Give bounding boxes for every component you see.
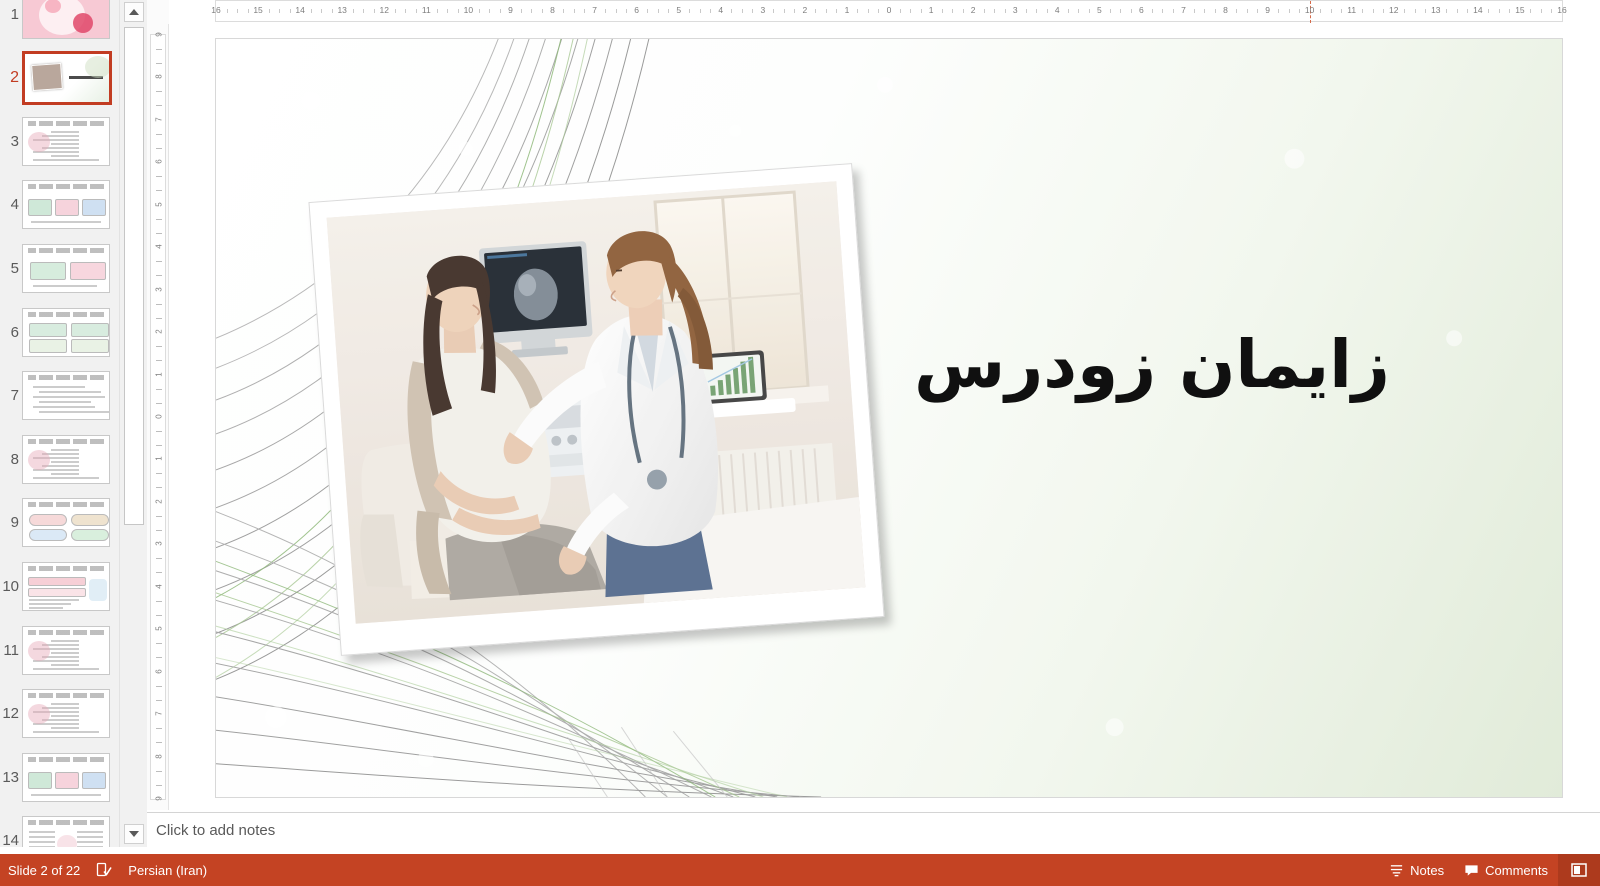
- slide-thumbnail-preview[interactable]: [22, 562, 110, 611]
- ruler-tick-label: 9: [508, 5, 513, 15]
- ruler-minor-tick: [156, 686, 162, 687]
- slide-thumbnail-6[interactable]: 6: [0, 300, 119, 364]
- ruler-tick-label: 12: [1389, 5, 1398, 15]
- ruler-minor-tick: [1289, 9, 1290, 13]
- ruler-right-filler: [1563, 0, 1600, 24]
- ruler-minor-tick: [321, 9, 322, 13]
- ruler-minor-tick: [500, 9, 501, 13]
- slide-thumbnail-2[interactable]: 2: [0, 46, 119, 110]
- normal-view-button[interactable]: [1558, 854, 1600, 886]
- ruler-minor-tick: [395, 9, 396, 13]
- thumbnail-scrollbar[interactable]: [119, 0, 147, 847]
- ruler-tick-label: 8: [1223, 5, 1228, 15]
- ruler-minor-tick: [542, 9, 543, 13]
- ruler-tick-label: 15: [253, 5, 262, 15]
- ruler-tick-label: 9: [155, 27, 164, 43]
- slide-thumbnail-number: 10: [0, 579, 22, 594]
- ruler-tick-label: 6: [155, 663, 164, 679]
- slide-thumbnail-14[interactable]: 14: [0, 809, 119, 847]
- slide-thumbnail-13[interactable]: 13: [0, 745, 119, 809]
- ruler-minor-tick: [1247, 9, 1248, 13]
- ruler-minor-tick: [1457, 9, 1458, 13]
- ruler-minor-tick: [156, 445, 162, 446]
- ruler-minor-tick: [1110, 9, 1111, 13]
- notes-button[interactable]: Notes: [1379, 854, 1454, 886]
- ruler-minor-tick: [878, 9, 879, 13]
- ruler-minor-tick: [1331, 9, 1332, 13]
- ruler-minor-tick: [269, 9, 270, 13]
- ruler-minor-tick: [156, 700, 162, 701]
- ruler-minor-tick: [479, 9, 480, 13]
- slide-thumbnail-10[interactable]: 10: [0, 554, 119, 618]
- ruler-minor-tick: [1089, 9, 1090, 13]
- ruler-minor-tick: [794, 9, 795, 13]
- ruler-minor-tick: [1120, 9, 1121, 13]
- slide-thumbnail-preview[interactable]: [22, 0, 110, 39]
- ruler-minor-tick: [921, 9, 922, 13]
- slide-thumbnail-number: 6: [0, 325, 22, 340]
- ruler-tick-label: 5: [1097, 5, 1102, 15]
- ruler-minor-tick: [626, 9, 627, 13]
- ruler-minor-tick: [752, 9, 753, 13]
- ruler-tick-label: 15: [1515, 5, 1524, 15]
- comment-icon: [1464, 863, 1479, 878]
- ruler-tick-label: 0: [887, 5, 892, 15]
- ruler-minor-tick: [416, 9, 417, 13]
- ruler-tick-label: 16: [211, 5, 220, 15]
- ruler-tick-label: 4: [155, 578, 164, 594]
- ruler-tick-label: 0: [155, 409, 164, 425]
- ruler-minor-tick: [1467, 9, 1468, 13]
- accessibility-check-icon[interactable]: [96, 862, 112, 878]
- ruler-minor-tick: [1446, 9, 1447, 13]
- ruler-tick-label: 10: [464, 5, 473, 15]
- ruler-minor-tick: [1026, 9, 1027, 13]
- ruler-minor-tick: [374, 9, 375, 13]
- slide-thumbnail-number: 11: [0, 643, 22, 658]
- slide-canvas-area[interactable]: زایمان زودرس: [169, 24, 1600, 810]
- slide-thumbnail-preview[interactable]: [22, 498, 110, 547]
- ruler-minor-tick: [1341, 9, 1342, 13]
- slide-thumbnail-3[interactable]: 3: [0, 109, 119, 173]
- ruler-tick-label: 7: [592, 5, 597, 15]
- ruler-minor-tick: [405, 9, 406, 13]
- scroll-down-arrow-icon[interactable]: [124, 824, 144, 844]
- slide-thumbnail-number: 4: [0, 197, 22, 212]
- ruler-minor-tick: [156, 516, 162, 517]
- ruler-minor-tick: [156, 105, 162, 106]
- ruler-tick-label: 13: [337, 5, 346, 15]
- ruler-tick-label: 14: [1473, 5, 1482, 15]
- ruler-tick-label: 5: [676, 5, 681, 15]
- ruler-minor-tick: [689, 9, 690, 13]
- ruler-tick-label: 6: [1139, 5, 1144, 15]
- ruler-minor-tick: [584, 9, 585, 13]
- ruler-minor-tick: [1152, 9, 1153, 13]
- ruler-minor-tick: [1551, 9, 1552, 13]
- ruler-minor-tick: [156, 176, 162, 177]
- ruler-minor-tick: [156, 615, 162, 616]
- ruler-tick-label: 10: [1305, 5, 1314, 15]
- slide-thumbnail-7[interactable]: 7: [0, 364, 119, 428]
- slide-thumbnail-preview[interactable]: [22, 435, 110, 484]
- ruler-minor-tick: [563, 9, 564, 13]
- ruler-tick-label: 7: [1181, 5, 1186, 15]
- ruler-tick-label: 13: [1431, 5, 1440, 15]
- ruler-minor-tick: [784, 9, 785, 13]
- ruler-minor-tick: [156, 318, 162, 319]
- ruler-tick-label: 3: [155, 536, 164, 552]
- ruler-minor-tick: [1215, 9, 1216, 13]
- slide-thumbnail-preview[interactable]: [22, 308, 110, 357]
- ruler-tick-label: 7: [155, 111, 164, 127]
- status-bar: Slide 2 of 22 Persian (Iran) Notes Comme…: [0, 854, 1600, 886]
- ruler-minor-tick: [994, 9, 995, 13]
- slide-counter[interactable]: Slide 2 of 22: [8, 863, 80, 878]
- ruler-tick-label: 4: [1055, 5, 1060, 15]
- ruler-minor-tick: [773, 9, 774, 13]
- ruler-minor-tick: [1047, 9, 1048, 13]
- ruler-minor-tick: [156, 530, 162, 531]
- comments-button[interactable]: Comments: [1454, 854, 1558, 886]
- ruler-minor-tick: [156, 91, 162, 92]
- slide-thumbnail-preview[interactable]: [22, 753, 110, 802]
- ruler-minor-tick: [363, 9, 364, 13]
- ruler-tick-label: 3: [1013, 5, 1018, 15]
- ruler-minor-tick: [290, 9, 291, 13]
- ruler-minor-tick: [156, 572, 162, 573]
- ruler-minor-tick: [156, 487, 162, 488]
- notes-placeholder[interactable]: Click to add notes: [147, 822, 275, 839]
- ruler-minor-tick: [531, 9, 532, 13]
- ruler-minor-tick: [1299, 9, 1300, 13]
- ruler-minor-tick: [616, 9, 617, 13]
- ruler-minor-tick: [1383, 9, 1384, 13]
- notes-button-label: Notes: [1410, 863, 1444, 878]
- ruler-minor-tick: [248, 9, 249, 13]
- comments-button-label: Comments: [1485, 863, 1548, 878]
- ruler-minor-tick: [156, 304, 162, 305]
- slide-thumbnail-11[interactable]: 11: [0, 618, 119, 682]
- slide-thumbnail-9[interactable]: 9: [0, 491, 119, 555]
- slide-thumbnail-number: 12: [0, 706, 22, 721]
- current-slide[interactable]: زایمان زودرس: [215, 38, 1563, 798]
- ruler-tick-label: 8: [155, 748, 164, 764]
- ruler-minor-tick: [868, 9, 869, 13]
- ruler-minor-tick: [156, 261, 162, 262]
- notes-pane[interactable]: Click to add notes: [147, 812, 1600, 847]
- ruler-minor-tick: [353, 9, 354, 13]
- slide-thumbnail-preview[interactable]: [22, 51, 112, 105]
- ruler-tick-label: 3: [760, 5, 765, 15]
- ruler-minor-tick: [156, 148, 162, 149]
- ruler-minor-tick: [731, 9, 732, 13]
- ruler-tick-label: 11: [422, 5, 431, 15]
- slide-thumbnail-number: 14: [0, 833, 22, 847]
- ruler-minor-tick: [900, 9, 901, 13]
- ruler-tick-label: 6: [634, 5, 639, 15]
- slide-thumbnail-preview[interactable]: [22, 816, 110, 847]
- ruler-minor-tick: [156, 601, 162, 602]
- slide-title[interactable]: زایمان زودرس: [832, 324, 1472, 407]
- ruler-tick-label: 5: [155, 196, 164, 212]
- slide-thumbnail-number: 5: [0, 261, 22, 276]
- slide-thumbnail-number: 13: [0, 770, 22, 785]
- ruler-tick-label: 1: [929, 5, 934, 15]
- ruler-minor-tick: [1236, 9, 1237, 13]
- ruler-minor-tick: [836, 9, 837, 13]
- ruler-tick-label: 9: [1265, 5, 1270, 15]
- vertical-ruler[interactable]: 9876543210123456789: [147, 24, 169, 810]
- ruler-minor-tick: [1530, 9, 1531, 13]
- horizontal-ruler[interactable]: 1615141312111098765432101234567891011121…: [215, 0, 1563, 22]
- slide-photo-frame[interactable]: [308, 163, 884, 656]
- ruler-minor-tick: [1404, 9, 1405, 13]
- ruler-minor-tick: [1257, 9, 1258, 13]
- notes-icon: [1389, 863, 1404, 878]
- ruler-tick-label: 14: [295, 5, 304, 15]
- ruler-tick-label: 8: [155, 69, 164, 85]
- ruler-minor-tick: [1131, 9, 1132, 13]
- ruler-minor-tick: [815, 9, 816, 13]
- ruler-minor-tick: [942, 9, 943, 13]
- ruler-minor-tick: [1036, 9, 1037, 13]
- ruler-minor-tick: [668, 9, 669, 13]
- ruler-minor-tick: [1204, 9, 1205, 13]
- ruler-minor-tick: [156, 771, 162, 772]
- slide-thumbnail-number: 7: [0, 388, 22, 403]
- ruler-minor-tick: [237, 9, 238, 13]
- slide-thumbnail-preview[interactable]: [22, 626, 110, 675]
- ruler-tick-label: 2: [155, 493, 164, 509]
- ruler-minor-tick: [605, 9, 606, 13]
- ruler-minor-tick: [1320, 9, 1321, 13]
- ruler-minor-tick: [952, 9, 953, 13]
- ruler-minor-tick: [742, 9, 743, 13]
- ruler-minor-tick: [279, 9, 280, 13]
- ruler-tick-label: 1: [845, 5, 850, 15]
- slide-thumbnail-preview[interactable]: [22, 244, 110, 293]
- ruler-minor-tick: [156, 558, 162, 559]
- slide-thumbnail-preview[interactable]: [22, 180, 110, 229]
- ruler-minor-tick: [658, 9, 659, 13]
- ruler-minor-tick: [156, 134, 162, 135]
- ruler-minor-tick: [1362, 9, 1363, 13]
- slide-thumbnail-number: 1: [0, 7, 22, 22]
- ruler-minor-tick: [156, 403, 162, 404]
- ruler-minor-tick: [857, 9, 858, 13]
- ruler-minor-tick: [963, 9, 964, 13]
- ruler-minor-tick: [1078, 9, 1079, 13]
- ruler-minor-tick: [1005, 9, 1006, 13]
- ruler-tick-label: 12: [380, 5, 389, 15]
- ruler-minor-tick: [647, 9, 648, 13]
- vertical-ruler-track: 9876543210123456789: [150, 34, 166, 800]
- slide-thumbnail-number: 9: [0, 515, 22, 530]
- slide-thumbnail-preview[interactable]: [22, 117, 110, 166]
- ruler-minor-tick: [156, 63, 162, 64]
- ruler-minor-tick: [156, 785, 162, 786]
- ruler-minor-tick: [447, 9, 448, 13]
- scrollbar-thumb[interactable]: [124, 27, 144, 525]
- ruler-tick-label: 1: [155, 366, 164, 382]
- ruler-minor-tick: [156, 346, 162, 347]
- ruler-minor-tick: [156, 728, 162, 729]
- ruler-minor-tick: [574, 9, 575, 13]
- ruler-minor-tick: [1509, 9, 1510, 13]
- slide-thumbnail-1[interactable]: 1: [0, 0, 119, 46]
- ruler-minor-tick: [910, 9, 911, 13]
- slide-thumbnail-8[interactable]: 8: [0, 427, 119, 491]
- slide-thumbnail-12[interactable]: 12: [0, 682, 119, 746]
- ruler-tick-label: 4: [155, 239, 164, 255]
- ruler-minor-tick: [156, 219, 162, 220]
- ruler-minor-tick: [1194, 9, 1195, 13]
- ruler-tick-label: 2: [803, 5, 808, 15]
- ruler-minor-tick: [984, 9, 985, 13]
- slide-photo[interactable]: [327, 181, 866, 623]
- ruler-tick-label: 3: [155, 281, 164, 297]
- ruler-minor-tick: [156, 742, 162, 743]
- ruler-minor-tick: [156, 657, 162, 658]
- ruler-minor-tick: [1499, 9, 1500, 13]
- ruler-tick-label: 1: [155, 451, 164, 467]
- ruler-minor-tick: [458, 9, 459, 13]
- ruler-tick-label: 7: [155, 706, 164, 722]
- ruler-minor-tick: [156, 431, 162, 432]
- normal-view-icon: [1570, 861, 1588, 879]
- ruler-tick-label: 2: [155, 324, 164, 340]
- slide-thumbnail-4[interactable]: 4: [0, 173, 119, 237]
- ruler-minor-tick: [489, 9, 490, 13]
- ruler-minor-tick: [521, 9, 522, 13]
- ruler-minor-tick: [1278, 9, 1279, 13]
- slide-thumbnail-number: 8: [0, 452, 22, 467]
- ruler-tick-label: 2: [971, 5, 976, 15]
- slide-thumbnail-number: 2: [0, 70, 22, 86]
- ruler-minor-tick: [1173, 9, 1174, 13]
- slide-thumbnail-preview[interactable]: [22, 371, 110, 420]
- ruler-minor-tick: [227, 9, 228, 13]
- ruler-minor-tick: [156, 49, 162, 50]
- ruler-tick-label: 4: [718, 5, 723, 15]
- ruler-minor-tick: [156, 643, 162, 644]
- ruler-minor-tick: [311, 9, 312, 13]
- ruler-minor-tick: [700, 9, 701, 13]
- slide-thumbnail-pane[interactable]: 1234567891011121314: [0, 0, 119, 847]
- ruler-corner: [147, 0, 169, 24]
- ruler-minor-tick: [1425, 9, 1426, 13]
- slide-thumbnail-5[interactable]: 5: [0, 236, 119, 300]
- ruler-tick-label: 8: [550, 5, 555, 15]
- ruler-tick-label: 6: [155, 154, 164, 170]
- ruler-minor-tick: [710, 9, 711, 13]
- ruler-minor-tick: [826, 9, 827, 13]
- ruler-minor-tick: [156, 473, 162, 474]
- ruler-minor-tick: [156, 389, 162, 390]
- ruler-tick-label: 9: [155, 791, 164, 807]
- ruler-minor-tick: [156, 275, 162, 276]
- ruler-minor-tick: [1068, 9, 1069, 13]
- ruler-tick-label: 16: [1557, 5, 1566, 15]
- ruler-minor-tick: [1488, 9, 1489, 13]
- scroll-up-arrow-icon[interactable]: [124, 2, 144, 22]
- slide-thumbnail-number: 3: [0, 134, 22, 149]
- ruler-minor-tick: [156, 360, 162, 361]
- ruler-minor-tick: [332, 9, 333, 13]
- ruler-minor-tick: [156, 190, 162, 191]
- ruler-tick-label: 11: [1347, 5, 1356, 15]
- ruler-minor-tick: [156, 233, 162, 234]
- slide-thumbnail-preview[interactable]: [22, 689, 110, 738]
- ruler-minor-tick: [1162, 9, 1163, 13]
- ruler-tick-label: 5: [155, 621, 164, 637]
- ruler-minor-tick: [1415, 9, 1416, 13]
- ruler-minor-tick: [437, 9, 438, 13]
- ruler-minor-tick: [1373, 9, 1374, 13]
- language-indicator[interactable]: Persian (Iran): [128, 863, 207, 878]
- ruler-minor-tick: [1541, 9, 1542, 13]
